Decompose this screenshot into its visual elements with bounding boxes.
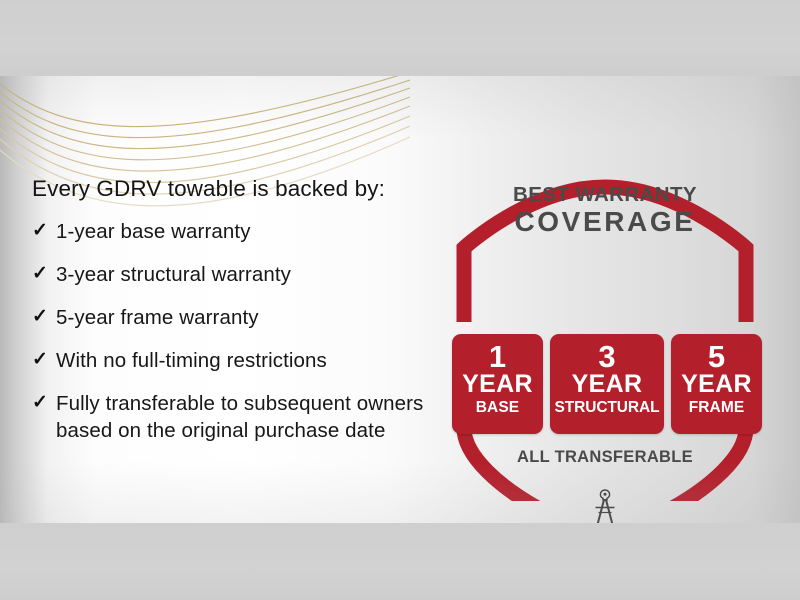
tile-kind: BASE xyxy=(452,399,543,417)
letterbox-bar-bottom xyxy=(0,523,800,600)
letterbox-bar-top xyxy=(0,0,800,76)
list-item-label: 5-year frame warranty xyxy=(56,304,259,331)
list-item-label: 3-year structural warranty xyxy=(56,261,291,288)
check-icon: ✓ xyxy=(32,304,56,330)
tile-kind: FRAME xyxy=(671,399,762,417)
page-title: Every GDRV towable is backed by: xyxy=(32,176,432,202)
list-item-label: Fully transferable to subsequent owners … xyxy=(56,390,432,444)
list-item-label: With no full-timing restrictions xyxy=(56,347,327,374)
shield-outline-icon xyxy=(440,156,770,501)
warranty-tile-group: 1 YEAR BASE 3 YEAR STRUCTURAL 5 YEAR FRA… xyxy=(452,334,762,434)
tile-kind: STRUCTURAL xyxy=(550,399,664,417)
tile-unit: YEAR xyxy=(550,372,664,397)
list-item: ✓ 3-year structural warranty xyxy=(32,261,432,288)
warranty-badge: BEST WARRANTY COVERAGE 1 YEAR BASE 3 YEA… xyxy=(440,156,770,501)
slide-canvas: Every GDRV towable is backed by: ✓ 1-yea… xyxy=(0,0,800,600)
compass-divider-icon xyxy=(587,488,623,523)
tile-number: 3 xyxy=(550,341,664,373)
check-icon: ✓ xyxy=(32,347,56,373)
check-icon: ✓ xyxy=(32,261,56,287)
warranty-tile-base: 1 YEAR BASE xyxy=(452,334,543,434)
slide-content: Every GDRV towable is backed by: ✓ 1-yea… xyxy=(0,76,800,523)
list-item: ✓ Fully transferable to subsequent owner… xyxy=(32,390,432,444)
list-item-label: 1-year base warranty xyxy=(56,218,251,245)
check-icon: ✓ xyxy=(32,390,56,416)
warranty-tile-frame: 5 YEAR FRAME xyxy=(671,334,762,434)
warranty-tile-structural: 3 YEAR STRUCTURAL xyxy=(550,334,664,434)
list-item: ✓ 1-year base warranty xyxy=(32,218,432,245)
tile-unit: YEAR xyxy=(671,372,762,397)
tile-number: 5 xyxy=(671,341,762,373)
list-item: ✓ With no full-timing restrictions xyxy=(32,347,432,374)
tile-unit: YEAR xyxy=(452,372,543,397)
list-item: ✓ 5-year frame warranty xyxy=(32,304,432,331)
copy-block: Every GDRV towable is backed by: ✓ 1-yea… xyxy=(32,176,432,460)
tile-number: 1 xyxy=(452,341,543,373)
check-icon: ✓ xyxy=(32,218,56,244)
